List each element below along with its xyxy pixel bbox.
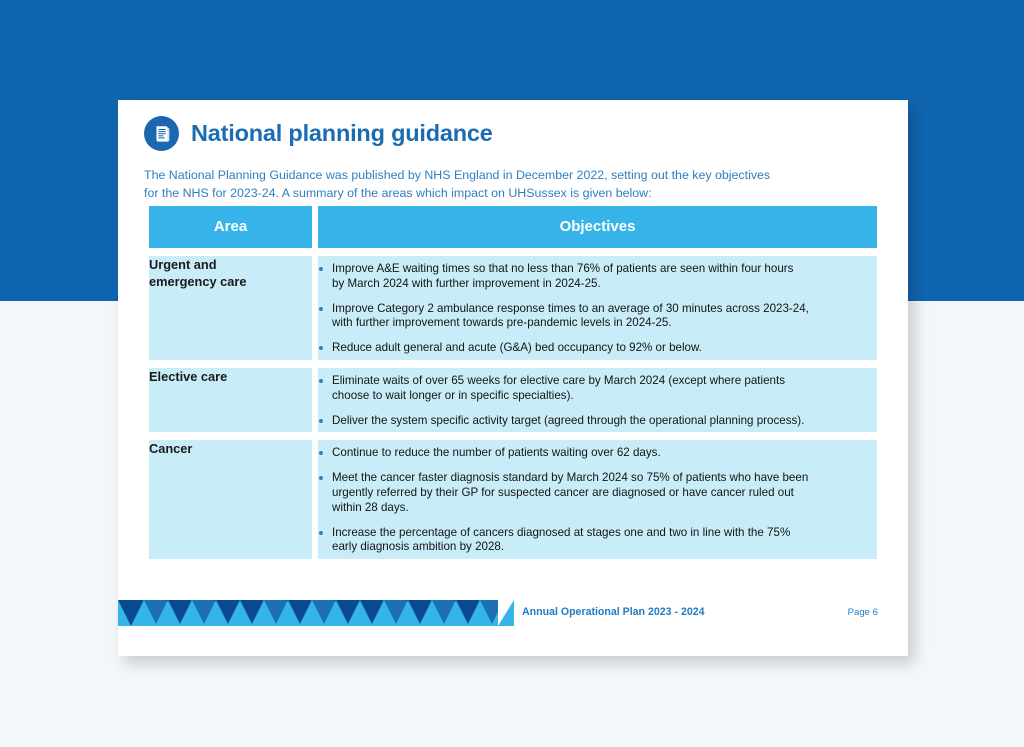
- guidance-table: Area Objectives Urgent and emergency car…: [149, 206, 877, 559]
- table-row: Cancer Continue to reduce the number of …: [149, 440, 877, 559]
- area-label-line-2: emergency care: [149, 273, 312, 290]
- document-scroll-icon: [144, 116, 179, 151]
- row-gap: [149, 432, 877, 440]
- objective-line: Continue to reduce the number of patient…: [332, 446, 877, 461]
- objectives-list: Continue to reduce the number of patient…: [318, 446, 877, 555]
- footer-page-number: Page 6: [848, 607, 878, 618]
- area-label-line-1: Cancer: [149, 440, 312, 457]
- table-row: Urgent and emergency care Improve A&E wa…: [149, 256, 877, 360]
- objective-line: Improve Category 2 ambulance response ti…: [332, 302, 877, 317]
- slide-page: National planning guidance The National …: [0, 0, 1024, 747]
- objectives-cell-urgent-emergency-care: Improve A&E waiting times so that no les…: [318, 256, 877, 360]
- column-header-objectives: Objectives: [318, 206, 877, 248]
- area-label-line-1: Urgent and: [149, 256, 312, 273]
- objective-line: Reduce adult general and acute (G&A) bed…: [332, 341, 877, 356]
- footer-document-title: Annual Operational Plan 2023 - 2024: [522, 606, 705, 618]
- objective-line: choose to wait longer or in specific spe…: [332, 389, 877, 404]
- objective-line: with further improvement towards pre-pan…: [332, 316, 877, 331]
- objective-line: Meet the cancer faster diagnosis standar…: [332, 471, 877, 486]
- objectives-list: Eliminate waits of over 65 weeks for ele…: [318, 374, 877, 428]
- intro-paragraph: The National Planning Guidance was publi…: [144, 167, 844, 202]
- list-item: Meet the cancer faster diagnosis standar…: [318, 471, 877, 515]
- objective-line: urgently referred by their GP for suspec…: [332, 486, 877, 501]
- area-cell-elective-care: Elective care: [149, 368, 312, 432]
- objectives-list: Improve A&E waiting times so that no les…: [318, 262, 877, 356]
- list-item: Increase the percentage of cancers diagn…: [318, 526, 877, 556]
- objectives-cell-elective-care: Eliminate waits of over 65 weeks for ele…: [318, 368, 877, 432]
- column-header-area: Area: [149, 206, 312, 248]
- intro-line-2: for the NHS for 2023-24. A summary of th…: [144, 185, 844, 203]
- page-title: National planning guidance: [191, 120, 493, 147]
- objectives-cell-cancer: Continue to reduce the number of patient…: [318, 440, 877, 559]
- slide-footer: Annual Operational Plan 2023 - 2024 Page…: [118, 600, 908, 630]
- objective-line: Eliminate waits of over 65 weeks for ele…: [332, 374, 877, 389]
- objective-line: Deliver the system specific activity tar…: [332, 414, 877, 429]
- objective-line: by March 2024 with further improvement i…: [332, 277, 877, 292]
- table-header-row: Area Objectives: [149, 206, 877, 248]
- list-item: Continue to reduce the number of patient…: [318, 446, 877, 461]
- objective-line: Increase the percentage of cancers diagn…: [332, 526, 877, 541]
- area-cell-urgent-emergency-care: Urgent and emergency care: [149, 256, 312, 360]
- area-cell-cancer: Cancer: [149, 440, 312, 559]
- triangle-band-decoration: [118, 600, 514, 626]
- area-label-line-1: Elective care: [149, 368, 312, 385]
- list-item: Reduce adult general and acute (G&A) bed…: [318, 341, 877, 356]
- row-gap: [149, 248, 877, 256]
- list-item: Improve Category 2 ambulance response ti…: [318, 302, 877, 332]
- list-item: Improve A&E waiting times so that no les…: [318, 262, 877, 292]
- table-row: Elective care Eliminate waits of over 65…: [149, 368, 877, 432]
- slide-card: National planning guidance The National …: [118, 100, 908, 656]
- intro-line-1: The National Planning Guidance was publi…: [144, 167, 844, 185]
- list-item: Eliminate waits of over 65 weeks for ele…: [318, 374, 877, 404]
- slide-title-row: National planning guidance: [144, 116, 493, 151]
- row-gap: [149, 360, 877, 368]
- objective-line: within 28 days.: [332, 501, 877, 516]
- objective-line: early diagnosis ambition by 2028.: [332, 540, 877, 555]
- objective-line: Improve A&E waiting times so that no les…: [332, 262, 877, 277]
- list-item: Deliver the system specific activity tar…: [318, 414, 877, 429]
